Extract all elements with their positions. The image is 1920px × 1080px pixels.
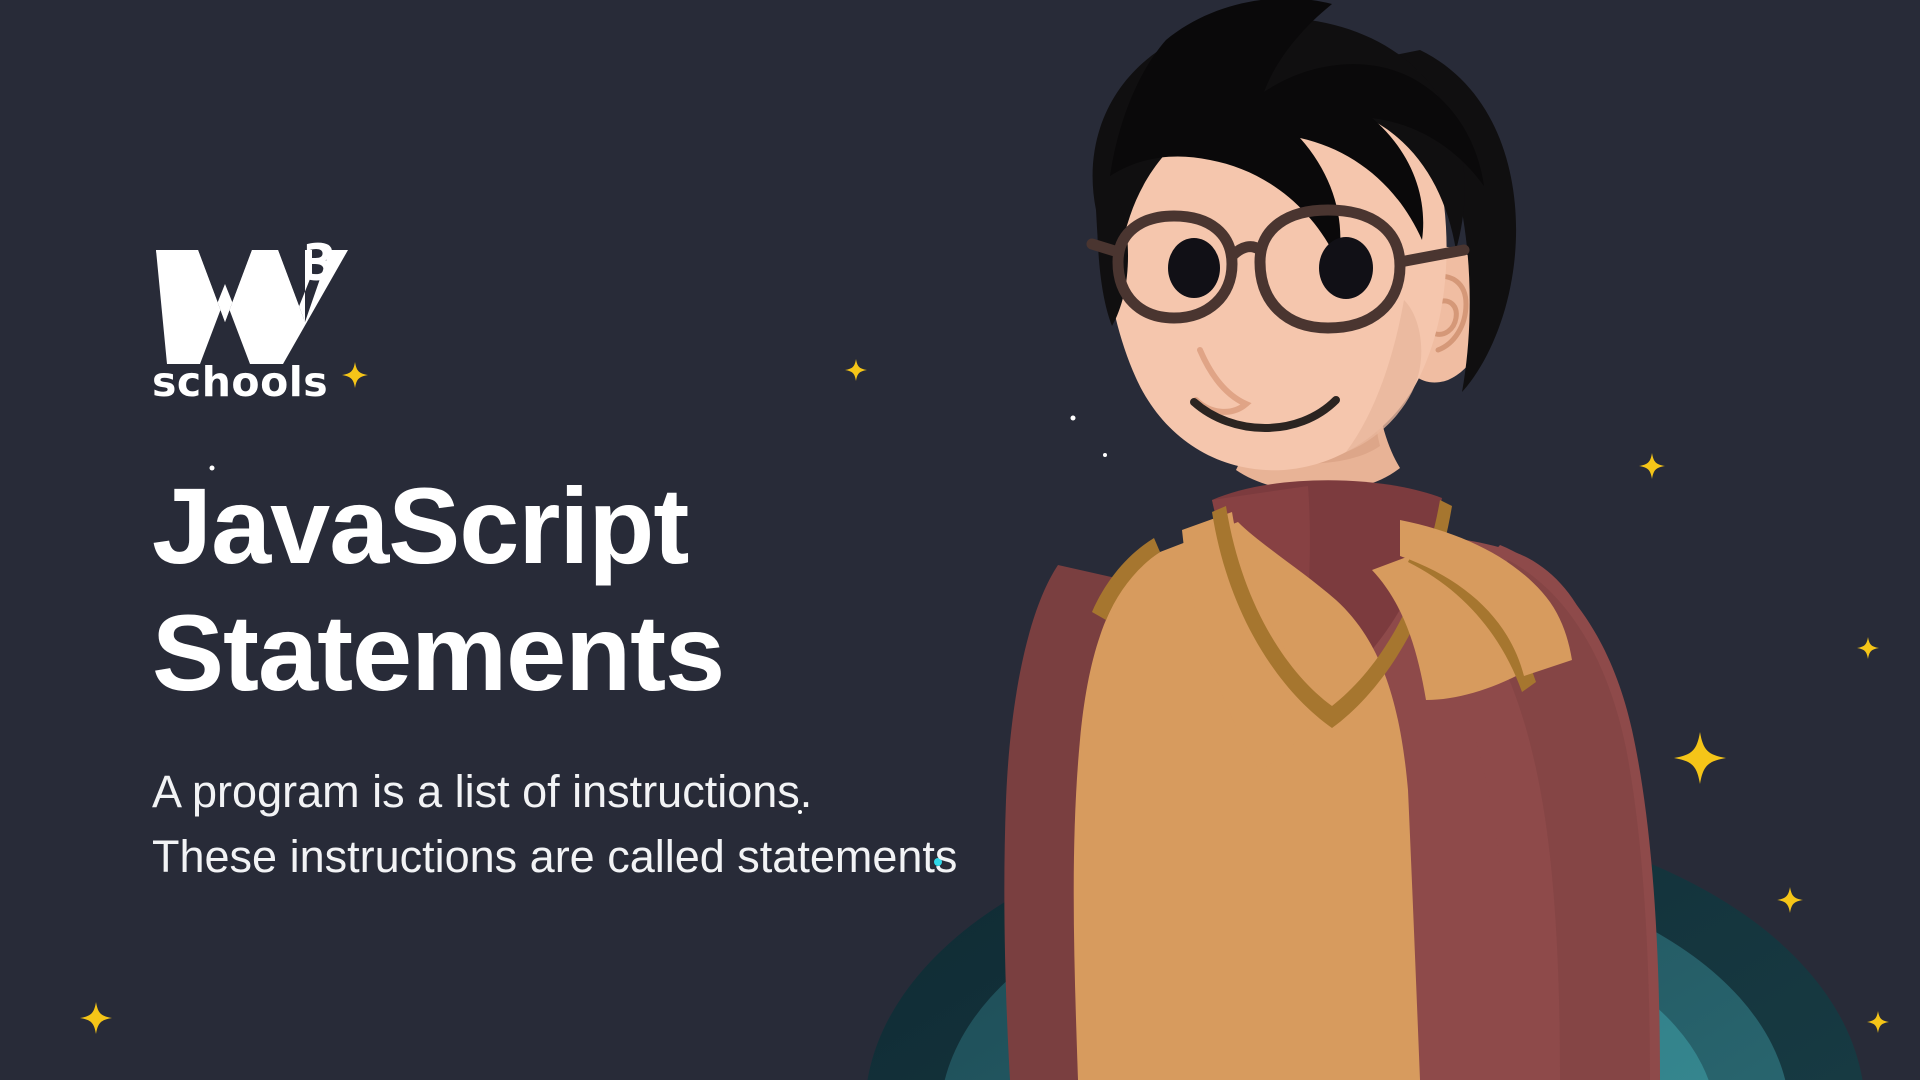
w3schools-logo[interactable]: 3 schools (152, 236, 352, 416)
page-subtitle: A program is a list of instructions. The… (152, 759, 1132, 890)
logo-wordmark: schools (152, 358, 328, 406)
w3-logo-icon: 3 (152, 236, 352, 366)
page-title-line-2: Statements (152, 589, 1132, 716)
hero-content: 3 schools JavaScript Statements A progra… (152, 236, 1132, 889)
logo-superscript: 3 (302, 236, 337, 292)
left-eye (1168, 238, 1220, 298)
page-subtitle-line-1: A program is a list of instructions. (152, 759, 1132, 824)
gold-star-icon (80, 1002, 112, 1034)
page-subtitle-line-2: These instructions are called statements (152, 824, 1132, 889)
right-eye (1319, 237, 1373, 299)
page-title: JavaScript Statements (152, 462, 1132, 717)
character-head (1092, 0, 1516, 470)
page-title-line-1: JavaScript (152, 462, 1132, 589)
